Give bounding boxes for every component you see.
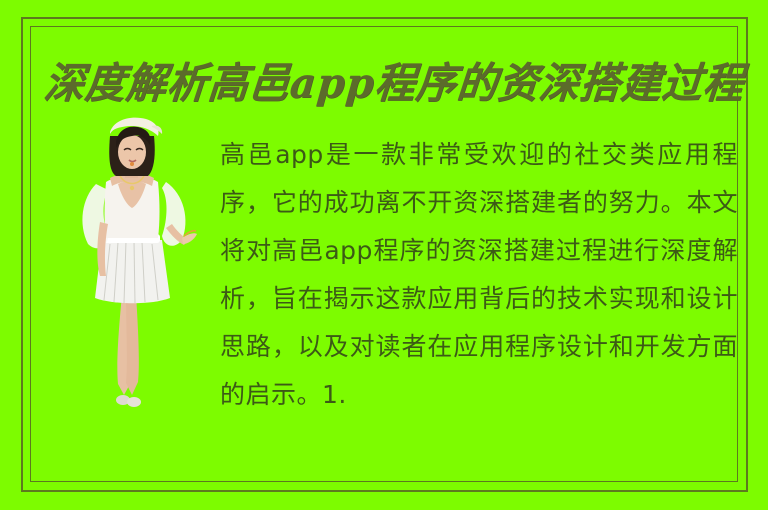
poster-canvas: 深度解析高邑app程序的资深搭建过程: [0, 0, 768, 510]
page-title: 深度解析高邑app程序的资深搭建过程: [41, 55, 726, 116]
hero-figure-image: [66, 112, 198, 412]
body-paragraph: 高邑app是一款非常受欢迎的社交类应用程序，它的成功离不开资深搭建者的努力。本文…: [220, 131, 738, 419]
